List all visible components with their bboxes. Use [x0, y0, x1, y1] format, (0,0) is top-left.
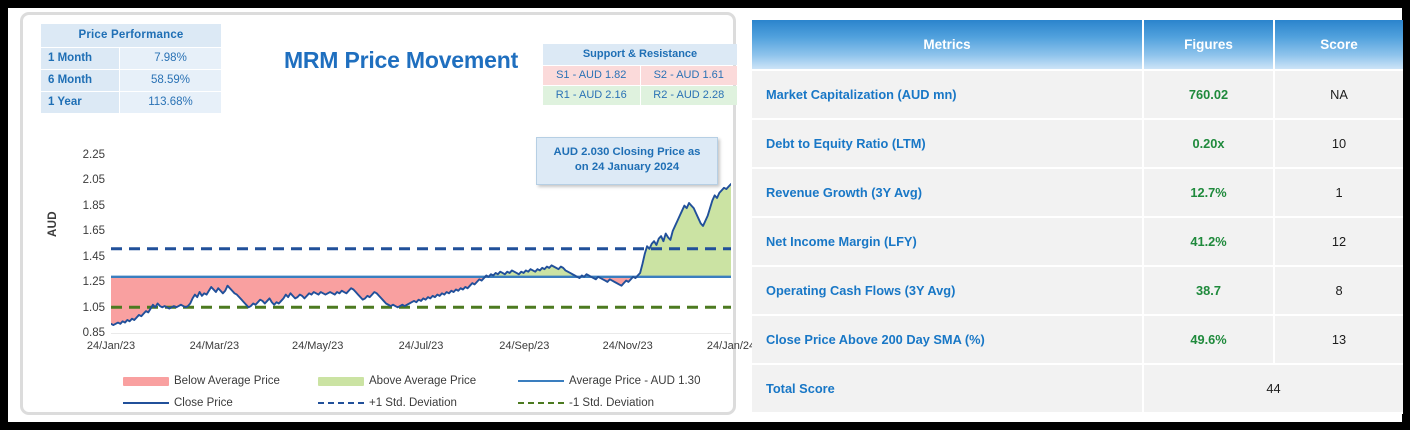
metric-name: Net Income Margin (LFY) — [752, 217, 1143, 266]
price-performance-header: Price Performance — [41, 24, 221, 47]
x-axis-tick: 24/Mar/23 — [174, 340, 254, 352]
metric-figure: 49.6% — [1143, 315, 1274, 364]
metric-score: NA — [1274, 70, 1403, 119]
metric-score: 12 — [1274, 217, 1403, 266]
total-score-row: Total Score44 — [752, 364, 1403, 413]
above-average-area — [111, 184, 731, 325]
y-axis-tick: 1.45 — [61, 251, 105, 263]
y-axis-tick: 2.05 — [61, 174, 105, 186]
table-row: R1 - AUD 2.16 R2 - AUD 2.28 — [543, 86, 737, 105]
resistance-1: R1 - AUD 2.16 — [543, 86, 640, 105]
x-axis-tick: 24/Jul/23 — [381, 340, 461, 352]
metrics-card: Metrics Figures Score Market Capitalizat… — [752, 20, 1403, 412]
price-movement-card: Price Performance 1 Month 7.98% 6 Month … — [20, 12, 736, 415]
legend-item[interactable]: Close Price — [123, 397, 318, 409]
table-row: 1 Month 7.98% — [41, 48, 221, 69]
table-row: Revenue Growth (3Y Avg)12.7%1 — [752, 168, 1403, 217]
support-2: S2 - AUD 1.61 — [641, 66, 738, 85]
table-row: Operating Cash Flows (3Y Avg)38.78 — [752, 266, 1403, 315]
metric-score: 1 — [1274, 168, 1403, 217]
table-row: 6 Month 58.59% — [41, 70, 221, 91]
total-score-label: Total Score — [752, 364, 1143, 413]
dash-green-icon — [518, 402, 564, 404]
y-axis-tick: 1.25 — [61, 276, 105, 288]
screenshot-root: Price Performance 1 Month 7.98% 6 Month … — [0, 0, 1410, 430]
metric-figure: 38.7 — [1143, 266, 1274, 315]
table-row: Price Performance — [41, 24, 221, 47]
table-row: S1 - AUD 1.82 S2 - AUD 1.61 — [543, 66, 737, 85]
metrics-header-score: Score — [1274, 20, 1403, 70]
metric-name: Close Price Above 200 Day SMA (%) — [752, 315, 1143, 364]
legend-label: -1 Std. Deviation — [569, 397, 654, 409]
metric-score: 13 — [1274, 315, 1403, 364]
metric-figure: 760.02 — [1143, 70, 1274, 119]
legend-item[interactable]: Average Price - AUD 1.30 — [518, 375, 733, 387]
legend-label: Below Average Price — [174, 375, 280, 387]
pp-label-1-year: 1 Year — [41, 92, 119, 113]
swatch-red-icon — [123, 377, 169, 386]
y-axis-tick: 1.65 — [61, 225, 105, 237]
table-row: Market Capitalization (AUD mn)760.02NA — [752, 70, 1403, 119]
dash-navy-icon — [318, 402, 364, 404]
table-row: Close Price Above 200 Day SMA (%)49.6%13 — [752, 315, 1403, 364]
table-row: Debt to Equity Ratio (LTM)0.20x10 — [752, 119, 1403, 168]
table-row: 1 Year 113.68% — [41, 92, 221, 113]
chart-title: MRM Price Movement — [255, 47, 547, 74]
metric-score: 10 — [1274, 119, 1403, 168]
callout-line-1: AUD 2.030 Closing Price as — [543, 145, 711, 160]
metrics-header-figures: Figures — [1143, 20, 1274, 70]
pp-value-1-month: 7.98% — [120, 48, 221, 69]
legend-label: +1 Std. Deviation — [369, 397, 457, 409]
x-axis-tick: 24/Sep/23 — [484, 340, 564, 352]
metrics-table: Metrics Figures Score Market Capitalizat… — [752, 20, 1403, 414]
metric-figure: 12.7% — [1143, 168, 1274, 217]
metric-name: Debt to Equity Ratio (LTM) — [752, 119, 1143, 168]
pp-label-6-month: 6 Month — [41, 70, 119, 91]
swatch-green-icon — [318, 377, 364, 386]
legend-item[interactable]: +1 Std. Deviation — [318, 397, 518, 409]
x-axis-tick: 24/Jan/23 — [71, 340, 151, 352]
y-axis-tick: 2.25 — [61, 149, 105, 161]
white-canvas: Price Performance 1 Month 7.98% 6 Month … — [8, 8, 1402, 422]
metrics-body: Market Capitalization (AUD mn)760.02NADe… — [752, 70, 1403, 413]
legend-item[interactable]: Above Average Price — [318, 375, 518, 387]
y-axis-tick: 1.85 — [61, 200, 105, 212]
close-price-line — [111, 184, 731, 325]
pp-value-6-month: 58.59% — [120, 70, 221, 91]
support-resistance-table: Support & Resistance S1 - AUD 1.82 S2 - … — [542, 43, 738, 106]
metric-name: Market Capitalization (AUD mn) — [752, 70, 1143, 119]
legend-row: Below Average PriceAbove Average PriceAv… — [123, 370, 733, 392]
resistance-2: R2 - AUD 2.28 — [641, 86, 738, 105]
metrics-header-row: Metrics Figures Score — [752, 20, 1403, 70]
x-axis-tick: 24/May/23 — [278, 340, 358, 352]
table-row: Net Income Margin (LFY)41.2%12 — [752, 217, 1403, 266]
legend-item[interactable]: -1 Std. Deviation — [518, 397, 733, 409]
x-axis-tick: 24/Nov/23 — [588, 340, 668, 352]
legend-label: Above Average Price — [369, 375, 476, 387]
line-blue-icon — [518, 380, 564, 382]
price-performance-table: Price Performance 1 Month 7.98% 6 Month … — [40, 23, 222, 114]
support-resistance-header: Support & Resistance — [543, 44, 737, 65]
legend-label: Close Price — [174, 397, 233, 409]
chart-legend: Below Average PriceAbove Average PriceAv… — [123, 370, 733, 414]
y-axis-tick: 1.05 — [61, 302, 105, 314]
callout-line-2: on 24 January 2024 — [543, 160, 711, 175]
legend-label: Average Price - AUD 1.30 — [569, 375, 700, 387]
metric-figure: 41.2% — [1143, 217, 1274, 266]
pp-label-1-month: 1 Month — [41, 48, 119, 69]
legend-row: Close Price+1 Std. Deviation-1 Std. Devi… — [123, 392, 733, 414]
support-1: S1 - AUD 1.82 — [543, 66, 640, 85]
line-navy-icon — [123, 402, 169, 404]
metric-name: Revenue Growth (3Y Avg) — [752, 168, 1143, 217]
total-score-value: 44 — [1143, 364, 1403, 413]
metrics-header-metrics: Metrics — [752, 20, 1143, 70]
y-axis-tick: 0.85 — [61, 327, 105, 339]
pp-value-1-year: 113.68% — [120, 92, 221, 113]
below-average-area — [111, 184, 731, 325]
y-axis-title: AUD — [47, 211, 59, 237]
table-row: Support & Resistance — [543, 44, 737, 65]
legend-item[interactable]: Below Average Price — [123, 375, 318, 387]
metric-figure: 0.20x — [1143, 119, 1274, 168]
metric-score: 8 — [1274, 266, 1403, 315]
closing-price-callout: AUD 2.030 Closing Price as on 24 January… — [536, 137, 718, 185]
metric-name: Operating Cash Flows (3Y Avg) — [752, 266, 1143, 315]
